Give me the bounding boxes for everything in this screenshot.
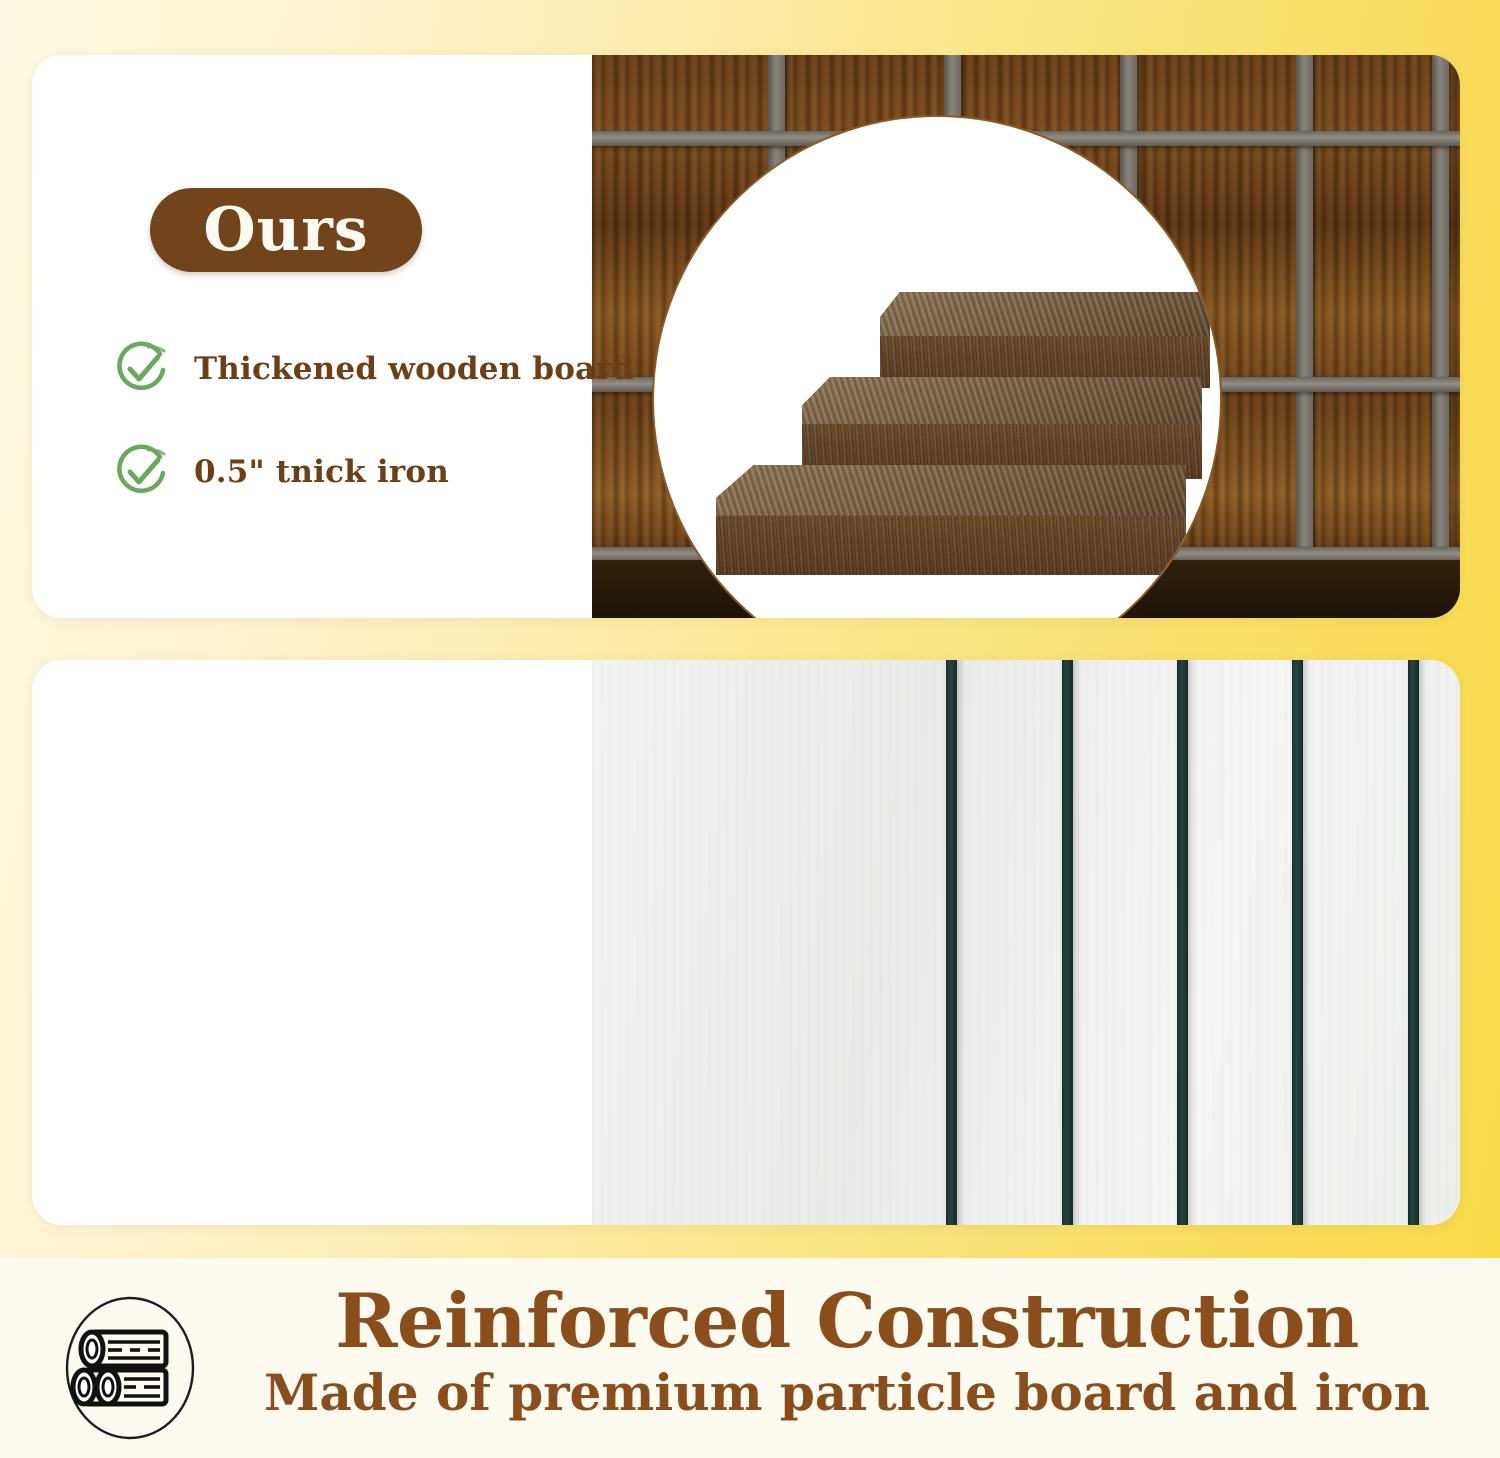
ours-bullet-1-label: Thickened wooden board (194, 351, 634, 387)
thick-board-back (880, 292, 1210, 388)
others-photo (592, 660, 1460, 1225)
ours-bullet-2-label: 0.5" tnick iron (194, 454, 449, 490)
banner-subtitle: Made of premium particle board and iron (222, 1367, 1472, 1420)
ours-bullet-1: Thickened wooden board (114, 340, 634, 398)
thick-board-middle (802, 377, 1202, 479)
banner-title: Reinforced Construction (222, 1285, 1472, 1359)
stacked-logs-icon (60, 1292, 200, 1444)
ours-bullet-2: 0.5" tnick iron (114, 443, 449, 501)
check-circle-icon (114, 340, 172, 398)
thick-board-front (716, 465, 1186, 575)
ours-card: Ours Thickened wooden board 0.5" tni (32, 55, 1460, 618)
others-card: Others Inferior thin wooden board Thin i… (32, 660, 1460, 1225)
check-circle-icon (114, 443, 172, 501)
banner-text-block: Reinforced Construction Made of premium … (222, 1285, 1472, 1419)
comparison-infographic: Ours Thickened wooden board 0.5" tni (0, 0, 1500, 1458)
white-panel-texture (592, 660, 1460, 1225)
ours-badge: Ours (150, 188, 422, 272)
